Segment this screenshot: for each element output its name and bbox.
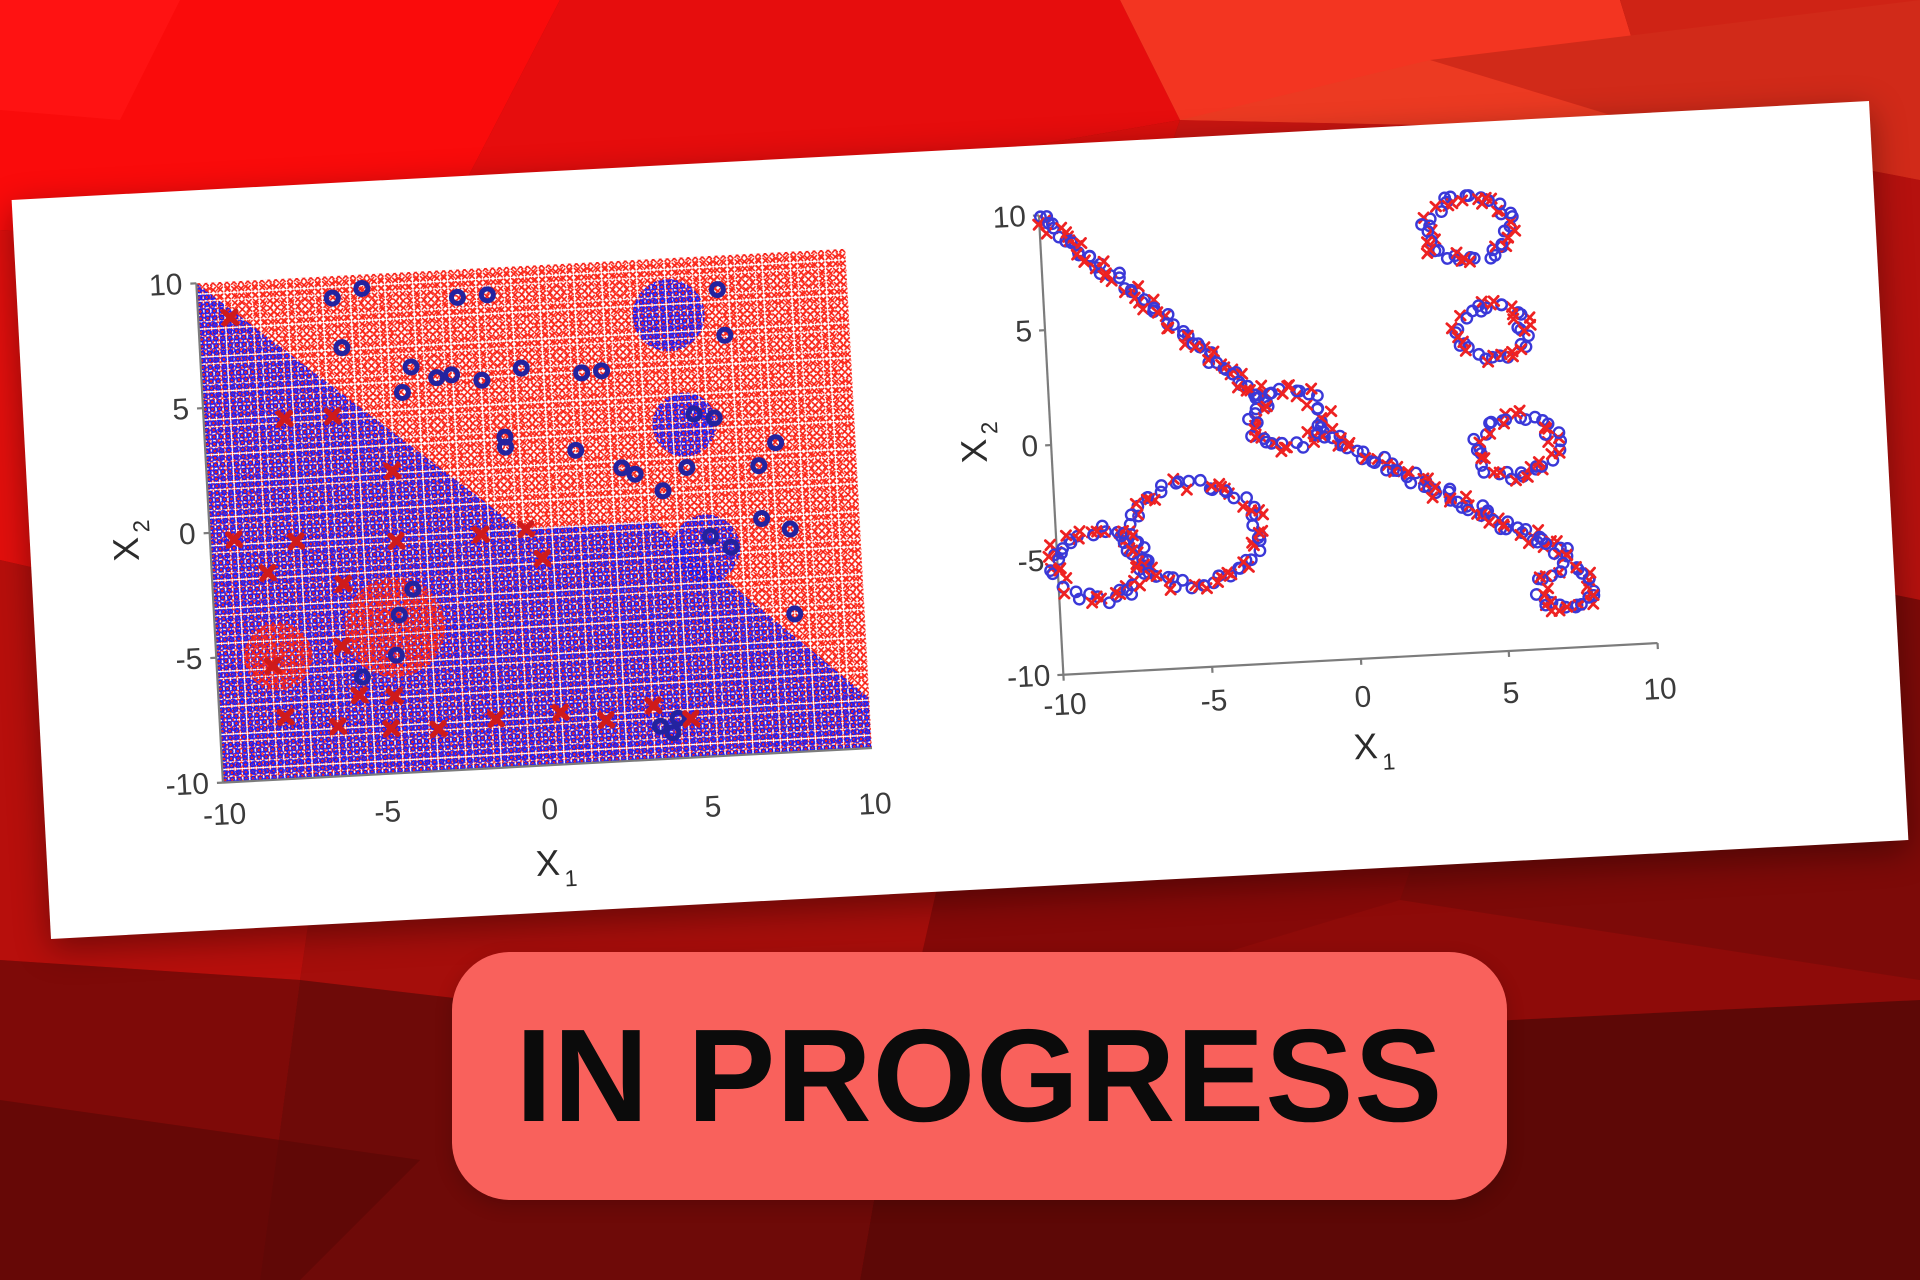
right-xlabel-sub: 1	[1382, 748, 1396, 775]
right-xlabel-group: X 1	[1353, 724, 1396, 776]
data-point-cross	[1045, 540, 1055, 550]
left-ytick-neg10: -10	[165, 767, 210, 802]
right-ytick-0: 0	[1021, 430, 1039, 464]
left-xlabel: X	[535, 842, 561, 884]
right-ytick-5: 5	[1015, 315, 1033, 349]
data-point-cross	[1059, 589, 1069, 599]
data-point-cross	[1461, 492, 1471, 502]
left-xlabel-group: X 1	[535, 841, 578, 893]
slide-canvas: 10 5 0 -5 -10 -10 -5 0 5 10 X 2	[0, 0, 1920, 1280]
right-xtick-5: 5	[1502, 677, 1520, 711]
left-xtick-5: 5	[704, 790, 722, 824]
right-ylabel-sub: 2	[976, 421, 1003, 435]
right-xtick-0: 0	[1354, 680, 1372, 714]
data-point-circle	[1177, 575, 1188, 586]
left-ytick-5: 5	[171, 393, 189, 427]
data-point-circle	[1183, 476, 1194, 487]
in-progress-badge[interactable]: IN PROGRESS	[452, 952, 1507, 1200]
right-xlabel: X	[1353, 725, 1379, 767]
left-ylabel-sub: 2	[128, 519, 155, 533]
data-point-cross	[1326, 407, 1336, 417]
slide-card-inner: 10 5 0 -5 -10 -10 -5 0 5 10 X 2	[12, 101, 1909, 939]
left-scatter-plot: 10 5 0 -5 -10 -10 -5 0 5 10 X 2	[74, 208, 928, 911]
data-point-circle	[1195, 475, 1206, 486]
right-xtick-10: 10	[1642, 672, 1677, 707]
data-point-cross	[1515, 406, 1525, 416]
left-ytick-0: 0	[178, 518, 196, 552]
right-xtick-neg10: -10	[1042, 688, 1087, 723]
data-point-cross	[1099, 257, 1109, 267]
right-ylabel: X	[953, 438, 995, 464]
right-ylabel-group: X 2	[952, 421, 1004, 464]
right-plot-data-area	[1026, 183, 1600, 643]
left-xlabel-sub: 1	[564, 865, 578, 892]
slide-card: 10 5 0 -5 -10 -10 -5 0 5 10 X 2	[12, 101, 1909, 939]
left-xtick-neg5: -5	[374, 795, 402, 829]
data-point-cross	[1302, 400, 1312, 410]
left-ytick-10: 10	[148, 268, 183, 303]
data-point-circle	[1478, 467, 1489, 478]
left-plot-svg: 10 5 0 -5 -10 -10 -5 0 5 10 X 2	[74, 208, 928, 911]
left-xtick-10: 10	[857, 787, 892, 822]
right-ytick-10: 10	[992, 200, 1027, 235]
left-xtick-0: 0	[541, 793, 559, 827]
left-plot-data-area	[196, 249, 872, 783]
left-ylabel: X	[105, 536, 147, 562]
left-ylabel-group: X 2	[104, 519, 156, 562]
right-scatter-plot: 10 5 0 -5 -10 -10 -5 0 5 10 X 2	[942, 138, 1775, 820]
left-ytick-neg5: -5	[175, 643, 203, 677]
left-xtick-neg10: -10	[202, 797, 247, 832]
right-ytick-neg5: -5	[1017, 545, 1045, 579]
right-plot-svg: 10 5 0 -5 -10 -10 -5 0 5 10 X 2	[942, 138, 1775, 820]
in-progress-badge-label: IN PROGRESS	[516, 1010, 1444, 1142]
right-xtick-neg5: -5	[1200, 684, 1228, 718]
